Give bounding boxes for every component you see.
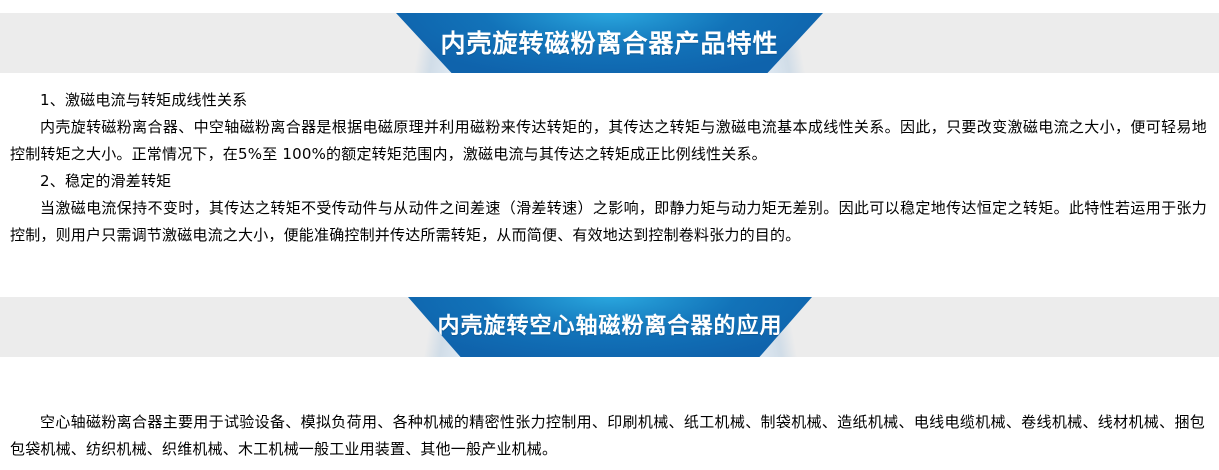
feature-2-heading: 2、稳定的滑差转矩 bbox=[10, 168, 1207, 195]
banner-2-plate: 内壳旋转空心轴磁粉离合器的应用 bbox=[408, 297, 812, 357]
banner-product-features: 内壳旋转磁粉离合器产品特性 bbox=[0, 13, 1219, 73]
banner-applications: 内壳旋转空心轴磁粉离合器的应用 bbox=[0, 297, 1219, 357]
banner-title-product-features: 内壳旋转磁粉离合器产品特性 bbox=[440, 31, 778, 56]
spacer-between-sections bbox=[0, 249, 1219, 297]
banner-title-applications: 内壳旋转空心轴磁粉离合器的应用 bbox=[437, 316, 782, 338]
feature-1-body: 内壳旋转磁粉离合器、中空轴磁粉离合器是根据电磁原理并利用磁粉来传达转矩的，其传达… bbox=[10, 114, 1207, 168]
page-root: { "theme": { "banner_blue_dark": "#0f63a… bbox=[0, 0, 1219, 470]
spacer-after-banner-2 bbox=[0, 357, 1219, 409]
top-spacer bbox=[0, 0, 1219, 13]
banner-plate: 内壳旋转磁粉离合器产品特性 bbox=[396, 13, 823, 73]
section-product-features: 1、激磁电流与转矩成线性关系 内壳旋转磁粉离合器、中空轴磁粉离合器是根据电磁原理… bbox=[0, 87, 1219, 249]
spacer-after-banner-1 bbox=[0, 73, 1219, 87]
section-applications: 空心轴磁粉离合器主要用于试验设备、模拟负荷用、各种机械的精密性张力控制用、印刷机… bbox=[0, 409, 1219, 463]
applications-body: 空心轴磁粉离合器主要用于试验设备、模拟负荷用、各种机械的精密性张力控制用、印刷机… bbox=[10, 409, 1205, 463]
feature-1-heading: 1、激磁电流与转矩成线性关系 bbox=[10, 87, 1207, 114]
feature-2-body: 当激磁电流保持不变时，其传达之转矩不受传动件与从动件之间差速（滑差转速）之影响，… bbox=[10, 195, 1207, 249]
